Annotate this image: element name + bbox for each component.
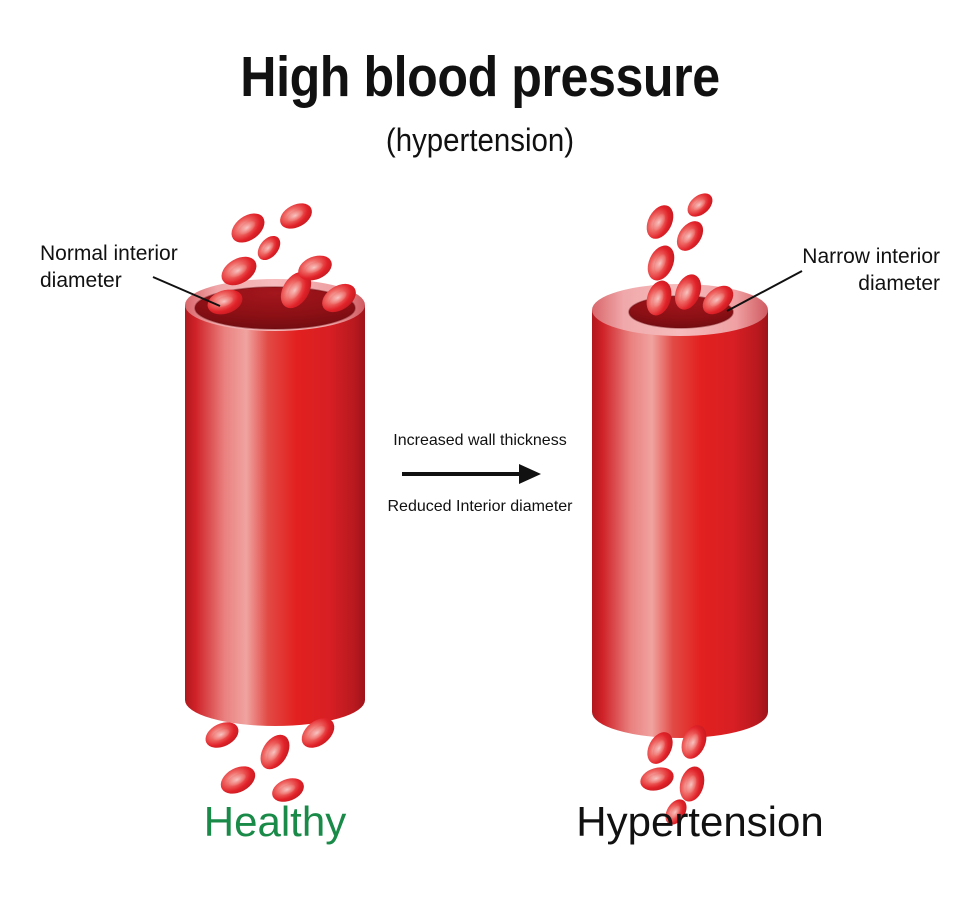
- healthy-bottom-cells: [201, 712, 340, 806]
- reduced-interior-diameter-label: Reduced Interior diameter: [330, 498, 630, 516]
- vessel-illustration: [0, 0, 960, 915]
- narrow-diameter-label: Narrow interior diameter: [700, 243, 940, 297]
- transition-arrow: [402, 464, 541, 484]
- diagram-canvas: High blood pressure (hypertension): [0, 0, 960, 915]
- hypertension-vessel-body: [592, 310, 768, 738]
- healthy-caption: Healthy: [150, 798, 400, 846]
- increased-wall-thickness-label: Increased wall thickness: [330, 432, 630, 450]
- normal-diameter-label: Normal interior diameter: [40, 240, 270, 294]
- hypertension-caption: Hypertension: [540, 798, 860, 846]
